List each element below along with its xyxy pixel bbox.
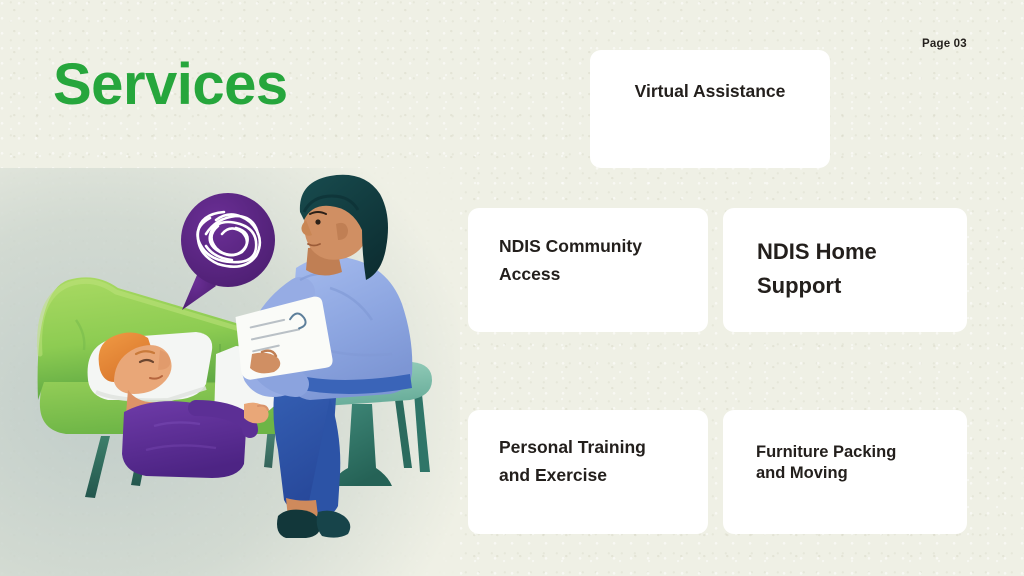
service-card-label: NDIS Home Support xyxy=(757,235,953,303)
page-title: Services xyxy=(53,56,288,114)
therapist-eye xyxy=(315,219,320,224)
page-number: Page 03 xyxy=(922,38,967,50)
service-card-personal-training[interactable]: Personal Training and Exercise xyxy=(468,410,708,534)
service-card-furniture-packing[interactable]: Furniture Packing and Moving xyxy=(723,410,967,534)
service-card-ndis-community-access[interactable]: NDIS Community Access xyxy=(468,208,708,332)
service-card-label: Virtual Assistance xyxy=(590,80,830,103)
service-card-label: NDIS Community Access xyxy=(499,232,692,289)
service-card-virtual-assistance[interactable]: Virtual Assistance xyxy=(590,50,830,168)
service-card-label: Personal Training and Exercise xyxy=(499,433,694,490)
service-card-ndis-home-support[interactable]: NDIS Home Support xyxy=(723,208,967,332)
slide-canvas: Page 03 Services xyxy=(0,0,1024,576)
therapy-session-illustration xyxy=(0,168,460,576)
service-card-label: Furniture Packing and Moving xyxy=(756,442,953,485)
